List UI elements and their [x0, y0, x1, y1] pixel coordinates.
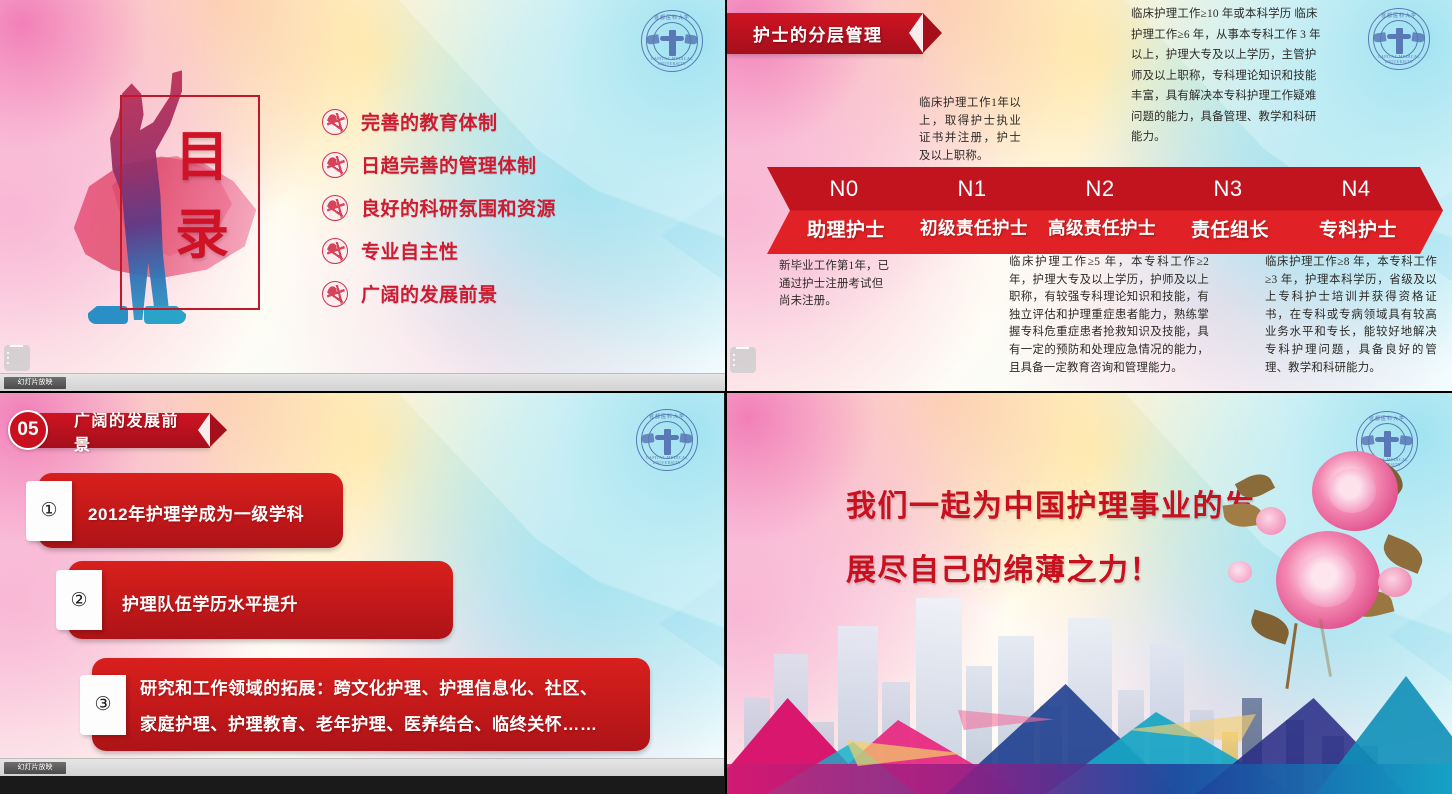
chevron-code: N2	[1023, 176, 1177, 202]
section-number-badge: 05	[8, 410, 48, 450]
seal-icon	[322, 238, 348, 264]
taskbar[interactable]: 幻灯片放映	[0, 758, 724, 776]
prospect-marker-tab-3: ③	[80, 675, 126, 735]
prospect-marker-1: ①	[40, 501, 57, 520]
university-logo-icon: 首都医科大学 CAPITAL MEDICAL UNIVERSITY	[641, 10, 703, 72]
logo-english-text: CAPITAL MEDICAL UNIVERSITY	[642, 56, 702, 66]
logo-english-text: CAPITAL MEDICAL UNIVERSITY	[637, 455, 697, 465]
prospect-text-1: 2012年护理学成为一级学科	[88, 500, 304, 525]
note-n0-below: 新毕业工作第1年，已通过护士注册考试但尚未注册。	[779, 258, 891, 311]
list-item[interactable]: 广阔的发展前景	[322, 272, 682, 315]
closing-line-2: 展尽自己的绵薄之力！	[846, 545, 1161, 589]
list-item-label: 广阔的发展前景	[361, 280, 498, 307]
logo-chinese-text: 首都医科大学	[1369, 12, 1429, 19]
list-item[interactable]: 日趋完善的管理体制	[322, 143, 682, 186]
chevron-name: 高级责任护士	[1023, 215, 1181, 240]
logo-english-text: CAPITAL MEDICAL UNIVERSITY	[1369, 54, 1429, 64]
chevron-name: 助理护士	[767, 215, 925, 242]
prospect-marker-3: ③	[94, 695, 111, 714]
taskbar[interactable]: 幻灯片放映	[0, 373, 725, 391]
list-item[interactable]: 良好的科研氛围和资源	[322, 186, 682, 229]
note-n3-above: 临床护理工作≥10 年或本科学历 临床护理工作≥6 年，从事本专科工作 3 年以…	[1131, 4, 1321, 148]
logo-chinese-text: 首都医科大学	[642, 14, 702, 21]
prospect-text-2: 护理队伍学历水平提升	[122, 590, 298, 615]
prospect-marker-tab-1: ①	[26, 481, 72, 541]
seal-icon	[322, 195, 348, 221]
prospect-marker-2: ②	[70, 591, 87, 610]
slide-title: 护士的分层管理	[727, 21, 899, 46]
slide-menu-icon[interactable]	[730, 347, 756, 373]
chevron-n4[interactable]: N4 专科护士	[1279, 167, 1443, 254]
slide-panel-prospects[interactable]: 首都医科大学 CAPITAL MEDICAL UNIVERSITY 05 广阔的…	[0, 393, 724, 776]
slide-menu-icon[interactable]	[4, 345, 30, 371]
list-item[interactable]: 完善的教育体制	[322, 100, 682, 143]
seal-icon	[322, 109, 348, 135]
list-item-label: 日趋完善的管理体制	[361, 151, 537, 178]
note-n2-below: 临床护理工作≥5 年，本专科工作≥2 年，护理大专及以上学历，护师及以上职称，有…	[1009, 254, 1209, 377]
list-item[interactable]: 专业自主性	[322, 229, 682, 272]
slide-title: 广阔的发展前景	[38, 407, 210, 455]
list-item-label: 良好的科研氛围和资源	[361, 194, 556, 221]
prospect-text-3-line2: 家庭护理、护理教育、老年护理、医养结合、临终关怀……	[140, 710, 598, 735]
chevron-name: 初级责任护士	[895, 215, 1053, 240]
contents-list: 完善的教育体制 日趋完善的管理体制 良好的科研氛围和资源 专业自主性 广阔的发展…	[322, 100, 682, 315]
slide-panel-nurse-levels[interactable]: 首都医科大学 CAPITAL MEDICAL UNIVERSITY 护士的分层管…	[727, 0, 1452, 391]
chevron-code: N3	[1151, 176, 1305, 202]
slide-panel-closing[interactable]: 首都医科大学 CAPITAL MEDICAL UNIVERSITY 我们一起为中…	[726, 393, 1452, 794]
taskbar-item[interactable]: 幻灯片放映	[4, 762, 66, 774]
prospect-marker-tab-2: ②	[56, 570, 102, 630]
list-item-label: 专业自主性	[361, 237, 459, 264]
prospect-bar-1[interactable]: ① 2012年护理学成为一级学科	[38, 473, 343, 548]
prospect-bar-3[interactable]: ③ 研究和工作领域的拓展：跨文化护理、护理信息化、社区、 家庭护理、护理教育、老…	[92, 658, 650, 751]
slide-title-banner: 广阔的发展前景	[38, 413, 210, 448]
chevron-code: N0	[767, 176, 921, 202]
screenshot-root: 首都医科大学 CAPITAL MEDICAL UNIVERSITY 目录 完善的…	[0, 0, 1452, 794]
chevron-name: 责任组长	[1151, 215, 1309, 242]
closing-line-1: 我们一起为中国护理事业的发	[846, 481, 1256, 525]
panel-divider-horizontal	[0, 391, 1452, 393]
logo-chinese-text: 首都医科大学	[637, 413, 697, 420]
note-n4-below: 临床护理工作≥8 年，本专科工作≥3 年，护理本科学历，省级及以上专科护士培训并…	[1265, 254, 1437, 377]
university-logo-icon: 首都医科大学 CAPITAL MEDICAL UNIVERSITY	[1368, 8, 1430, 70]
note-n1-above: 临床护理工作1年以上，取得护士执业证书并注册，护士及以上职称。	[919, 95, 1021, 165]
list-item-label: 完善的教育体制	[361, 108, 498, 135]
chevron-code: N1	[895, 176, 1049, 202]
university-logo-icon: 首都医科大学 CAPITAL MEDICAL UNIVERSITY	[636, 409, 698, 471]
chevron-code: N4	[1279, 176, 1433, 202]
seal-icon	[322, 152, 348, 178]
prospect-bar-2[interactable]: ② 护理队伍学历水平提升	[68, 561, 453, 639]
chevron-name: 专科护士	[1279, 215, 1437, 242]
contents-title: 目录	[168, 118, 238, 274]
slide-panel-contents[interactable]: 首都医科大学 CAPITAL MEDICAL UNIVERSITY 目录 完善的…	[0, 0, 725, 391]
seal-icon	[322, 281, 348, 307]
city-skyline-graphic	[726, 585, 1452, 794]
nurse-level-chevron-bar: N0 助理护士 N1 初级责任护士 N2 高级责任护士 N3 责任组长 N4 专…	[767, 167, 1443, 254]
logo-chinese-text: 首都医科大学	[1357, 415, 1417, 422]
prospect-text-3-line1: 研究和工作领域的拓展：跨文化护理、护理信息化、社区、	[140, 674, 598, 699]
slide-title-banner: 护士的分层管理	[727, 13, 923, 54]
panel-divider-vertical	[725, 0, 727, 794]
taskbar-item[interactable]: 幻灯片放映	[4, 377, 66, 389]
